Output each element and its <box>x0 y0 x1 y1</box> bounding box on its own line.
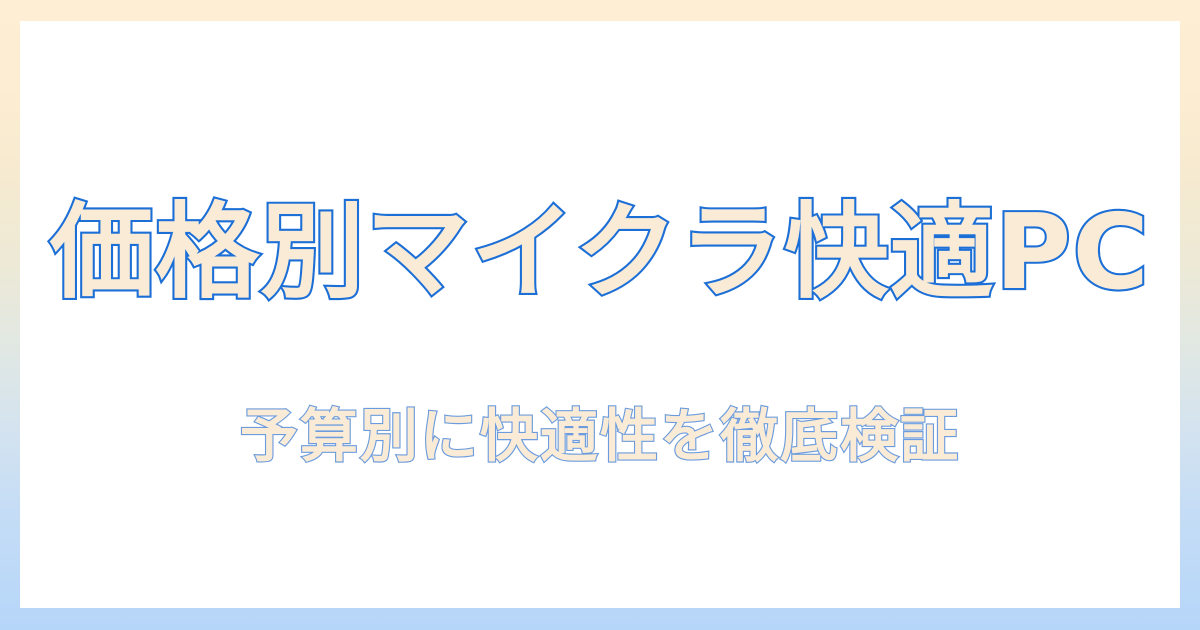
eyecatch-gradient-frame: 価格別マイクラ快適PC 予算別に快適性を徹底検証 <box>0 0 1200 630</box>
eyecatch-white-card: 価格別マイクラ快適PC 予算別に快適性を徹底検証 <box>20 21 1180 608</box>
page-subtitle: 予算別に快適性を徹底検証 <box>240 399 960 473</box>
page-title: 価格別マイクラ快適PC <box>50 189 1150 316</box>
title-block: 価格別マイクラ快適PC <box>20 189 1180 316</box>
subtitle-block: 予算別に快適性を徹底検証 <box>20 399 1180 473</box>
